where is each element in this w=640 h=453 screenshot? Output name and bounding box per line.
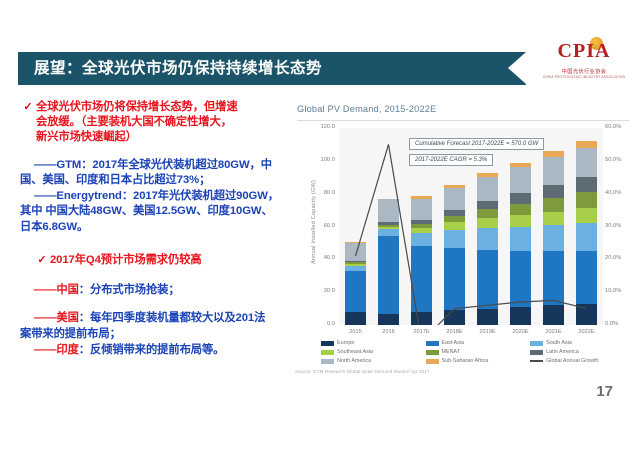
- detail-label-usa: ——美国: [34, 312, 79, 324]
- chart-x-tick: 2019E: [471, 329, 505, 335]
- chart-source-note: Source: GTM Research Global Solar Demand…: [295, 369, 430, 374]
- chart-y-tick: 80.0: [305, 190, 335, 196]
- chart-legend-item: MENAT: [426, 349, 531, 355]
- detail-row-india: ——印度：反倾销带来的提前布局等。: [20, 343, 288, 359]
- chart-x-tick: 2018E: [438, 329, 472, 335]
- chart-y2-tick: 50.0%: [605, 157, 633, 163]
- chart-title-divider: [297, 120, 629, 121]
- chart-legend-item: East Asia: [426, 340, 531, 346]
- chart-legend-item: South Asia: [530, 340, 635, 346]
- chart-x-tick: 2015: [339, 329, 373, 335]
- detail-text-china: 分布式市场抢装；: [90, 284, 180, 296]
- detail-label-china: ——中国: [34, 284, 79, 296]
- chart-legend-row: EuropeEast AsiaSouth Asia: [321, 340, 635, 346]
- chart-legend-swatch: [530, 350, 543, 355]
- chart-legend-label: North America: [337, 358, 371, 364]
- bullet-item-1: ✓ 全球光伏市场仍将保持增长态势，但增速 会放缓。（主要装机大国不确定性增大， …: [20, 100, 288, 146]
- chart-y-tick: 120.0: [305, 124, 335, 130]
- chart-panel: Global PV Demand, 2015-2022E Annual Inst…: [291, 101, 635, 383]
- detail-group-china: ——中国：分布式市场抢装；: [20, 283, 288, 299]
- chart-title: Global PV Demand, 2015-2022E: [297, 104, 436, 114]
- chart-x-tick: 2020E: [504, 329, 538, 335]
- detail-sep-india: ：: [79, 344, 90, 356]
- chart-y-tick: 60.0: [305, 223, 335, 229]
- chart-legend-swatch: [321, 350, 334, 355]
- chart-y-tick: 0.0: [305, 321, 335, 327]
- detail-line-gtm-1: ——GTM：2017年全球光伏装机超过80GW，中: [20, 158, 288, 174]
- chart-legend-label: MENAT: [442, 349, 460, 355]
- logo-mark: CPIA: [538, 40, 630, 62]
- chart-legend-item: Global Annual Growth: [530, 358, 635, 364]
- chart-legend-swatch: [321, 341, 334, 346]
- chart-legend-label: Latin America: [546, 349, 579, 355]
- page-number: 17: [596, 383, 613, 400]
- chart-legend-item: North America: [321, 358, 426, 364]
- chart-legend-item: Latin America: [530, 349, 635, 355]
- chart-legend-label: Global Annual Growth: [546, 358, 598, 364]
- detail-label-india: ——印度: [34, 344, 79, 356]
- cpia-logo: CPIA 中国光伏行业协会 CHINA PHOTOVOLTAIC INDUSTR…: [538, 28, 630, 82]
- title-chevron-icon: [508, 52, 526, 84]
- detail-sep-china: ：: [79, 284, 90, 296]
- chart-x-tick: 2022E: [570, 329, 604, 335]
- presentation-slide: 展望：全球光伏市场仍保持持续增长态势 CPIA 中国光伏行业协会 CHINA P…: [0, 0, 640, 453]
- chart-legend-row: Southeast AsiaMENATLatin America: [321, 349, 635, 355]
- chart-legend-item: Sub-Saharan Africa: [426, 358, 531, 364]
- slide-body-text: ✓ 全球光伏市场仍将保持增长态势，但增速 会放缓。（主要装机大国不确定性增大， …: [20, 100, 288, 390]
- bullet-1-line-1: 全球光伏市场仍将保持增长态势，但增速: [36, 100, 238, 115]
- chart-y2-tick: 0.0%: [605, 321, 633, 327]
- chart-legend-swatch: [426, 350, 439, 355]
- detail-line-energytrend-1: ——Energytrend：2017年光伏装机超过90GW，: [20, 189, 288, 205]
- bullet-1-line-3: 新兴市场快速崛起）: [36, 130, 238, 145]
- chart-legend-label: Sub-Saharan Africa: [442, 358, 489, 364]
- chart-y2-tick: 10.0%: [605, 288, 633, 294]
- chart-legend-swatch: [530, 341, 543, 346]
- chart-y2-tick: 20.0%: [605, 255, 633, 261]
- check-icon: ✓: [20, 100, 36, 114]
- detail-group-1: ——GTM：2017年全球光伏装机超过80GW，中 国、美国、印度和日本占比超过…: [20, 158, 288, 236]
- chart-legend: EuropeEast AsiaSouth AsiaSoutheast AsiaM…: [321, 340, 635, 368]
- bullet-1-line-2: 会放缓。（主要装机大国不确定性增大，: [36, 115, 238, 130]
- chart-y2-tick: 30.0%: [605, 223, 633, 229]
- chart-legend-item: Europe: [321, 340, 426, 346]
- chart-legend-swatch: [426, 341, 439, 346]
- chart-legend-label: East Asia: [442, 340, 464, 346]
- chart-legend-row: North AmericaSub-Saharan AfricaGlobal An…: [321, 358, 635, 364]
- page-title: 展望：全球光伏市场仍保持持续增长态势: [34, 56, 504, 82]
- detail-row-china: ——中国：分布式市场抢装；: [20, 283, 288, 299]
- chart-annotation-cumulative: Cumulative Forecast 2017-2022E = 570.0 G…: [409, 138, 544, 150]
- detail-group-usa: ——美国：每年四季度装机量都较大以及201法 案带来的提前布局； ——印度：反倾…: [20, 311, 288, 358]
- chart-x-tick: 2016: [372, 329, 406, 335]
- detail-text-usa: 每年四季度装机量都较大以及201法: [90, 312, 265, 324]
- bullet-2-text: 2017年Q4预计市场需求仍较高: [50, 253, 202, 268]
- logo-chinese-name: 中国光伏行业协会: [538, 68, 630, 75]
- detail-line-energytrend-3: 日本6.8GW。: [20, 220, 288, 236]
- chart-legend-label: South Asia: [546, 340, 572, 346]
- chart-y2-tick: 40.0%: [605, 190, 633, 196]
- chart-y2-tick: 60.0%: [605, 124, 633, 130]
- detail-sep-usa: ：: [79, 312, 90, 324]
- chart-legend-swatch: [321, 359, 334, 364]
- bullet-1-text: 全球光伏市场仍将保持增长态势，但增速 会放缓。（主要装机大国不确定性增大， 新兴…: [36, 100, 238, 146]
- chart-legend-label: Europe: [337, 340, 354, 346]
- bullet-item-2: ✓ 2017年Q4预计市场需求仍较高: [20, 253, 288, 268]
- detail-row-usa-cont: 案带来的提前布局；: [20, 327, 288, 343]
- chart-annotation-cagr: 2017-2022E CAGR = 5.3%: [409, 154, 493, 166]
- chart-y-tick: 100.0: [305, 157, 335, 163]
- chart-x-tick: 2021E: [537, 329, 571, 335]
- chart-legend-line-swatch: [530, 360, 543, 362]
- chart-y-tick: 40.0: [305, 255, 335, 261]
- logo-english-name: CHINA PHOTOVOLTAIC INDUSTRY ASSOCIATION: [538, 75, 630, 79]
- chart-x-tick: 2017E: [405, 329, 439, 335]
- chart-legend-label: Southeast Asia: [337, 349, 373, 355]
- chart-legend-item: Southeast Asia: [321, 349, 426, 355]
- detail-row-usa: ——美国：每年四季度装机量都较大以及201法: [20, 311, 288, 327]
- detail-line-gtm-2: 国、美国、印度和日本占比超过73%；: [20, 173, 288, 189]
- chart-y-tick: 20.0: [305, 288, 335, 294]
- detail-text-india: 反倾销带来的提前布局等。: [90, 344, 224, 356]
- chart-legend-swatch: [426, 359, 439, 364]
- check-icon-2: ✓: [34, 253, 50, 267]
- detail-line-energytrend-2: 其中 中国大陆48GW、美国12.5GW、印度10GW、: [20, 204, 288, 220]
